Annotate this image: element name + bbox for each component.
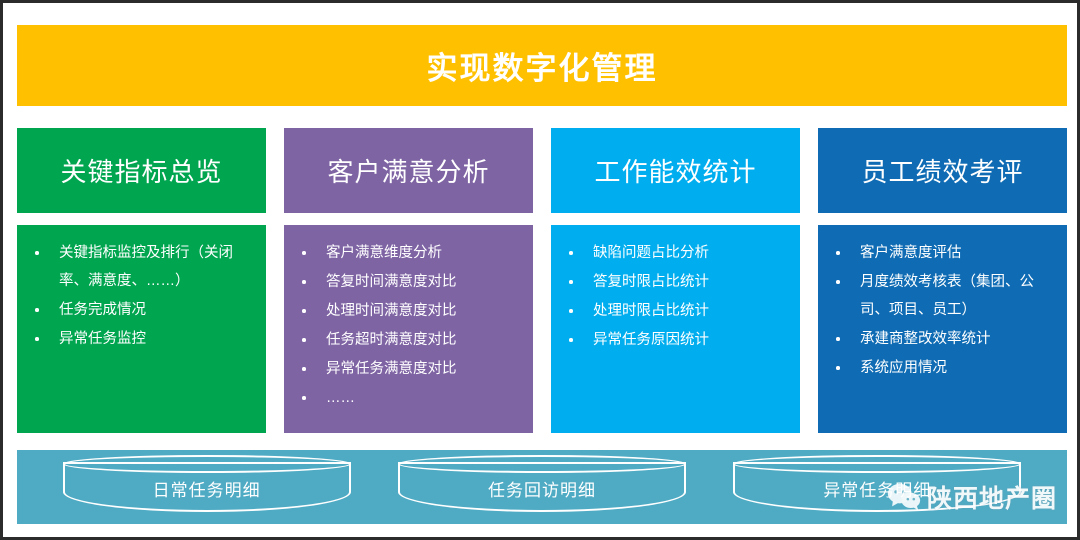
list-item: 任务超时满意度对比 bbox=[294, 326, 525, 354]
list-item: 处理时限占比统计 bbox=[561, 297, 792, 325]
column-work-efficiency: 工作能效统计 缺陷问题占比分析 答复时限占比统计 处理时限占比统计 异常任务原因… bbox=[551, 128, 800, 433]
column-body-4: 客户满意度评估 月度绩效考核表（集团、公司、项目、员工） 承建商整改效率统计 系… bbox=[818, 225, 1067, 433]
bullet-list-1: 关键指标监控及排行（关闭率、满意度、……） 任务完成情况 异常任务监控 bbox=[27, 239, 258, 353]
database-cylinder-abnormal-tasks: 异常任务明细 bbox=[733, 462, 1021, 512]
list-item: 系统应用情况 bbox=[828, 354, 1059, 382]
list-item: 月度绩效考核表（集团、公司、项目、员工） bbox=[828, 268, 1059, 324]
column-body-2: 客户满意维度分析 答复时间满意度对比 处理时间满意度对比 任务超时满意度对比 异… bbox=[284, 225, 533, 433]
bullet-list-4: 客户满意度评估 月度绩效考核表（集团、公司、项目、员工） 承建商整改效率统计 系… bbox=[828, 239, 1059, 382]
bullet-list-2: 客户满意维度分析 答复时间满意度对比 处理时间满意度对比 任务超时满意度对比 异… bbox=[294, 239, 525, 412]
slide-canvas: 实现数字化管理 关键指标总览 关键指标监控及排行（关闭率、满意度、……） 任务完… bbox=[0, 0, 1080, 540]
list-item: 异常任务满意度对比 bbox=[294, 355, 525, 383]
column-group: 关键指标总览 关键指标监控及排行（关闭率、满意度、……） 任务完成情况 异常任务… bbox=[17, 128, 1067, 433]
column-staff-performance: 员工绩效考评 客户满意度评估 月度绩效考核表（集团、公司、项目、员工） 承建商整… bbox=[818, 128, 1067, 433]
database-cylinder-task-revisits: 任务回访明细 bbox=[398, 462, 686, 512]
list-item: 缺陷问题占比分析 bbox=[561, 239, 792, 267]
list-item: 处理时间满意度对比 bbox=[294, 297, 525, 325]
column-header-2: 客户满意分析 bbox=[284, 128, 533, 213]
title-banner: 实现数字化管理 bbox=[17, 25, 1067, 106]
list-item: 异常任务监控 bbox=[27, 325, 258, 353]
list-item: 任务完成情况 bbox=[27, 296, 258, 324]
list-item: 答复时限占比统计 bbox=[561, 268, 792, 296]
database-cylinder-daily-tasks: 日常任务明细 bbox=[63, 462, 351, 512]
column-body-3: 缺陷问题占比分析 答复时限占比统计 处理时限占比统计 异常任务原因统计 bbox=[551, 225, 800, 433]
list-item: 客户满意度评估 bbox=[828, 239, 1059, 267]
list-item: 异常任务原因统计 bbox=[561, 326, 792, 354]
column-customer-satisfaction: 客户满意分析 客户满意维度分析 答复时间满意度对比 处理时间满意度对比 任务超时… bbox=[284, 128, 533, 433]
database-label: 异常任务明细 bbox=[823, 476, 931, 501]
page-title: 实现数字化管理 bbox=[427, 43, 658, 88]
list-item: 客户满意维度分析 bbox=[294, 239, 525, 267]
list-item: 承建商整改效率统计 bbox=[828, 325, 1059, 353]
database-label: 日常任务明细 bbox=[153, 476, 261, 501]
column-body-1: 关键指标监控及排行（关闭率、满意度、……） 任务完成情况 异常任务监控 bbox=[17, 225, 266, 433]
list-item: …… bbox=[294, 384, 525, 412]
column-header-1: 关键指标总览 bbox=[17, 128, 266, 213]
bullet-list-3: 缺陷问题占比分析 答复时限占比统计 处理时限占比统计 异常任务原因统计 bbox=[561, 239, 792, 354]
column-key-metrics: 关键指标总览 关键指标监控及排行（关闭率、满意度、……） 任务完成情况 异常任务… bbox=[17, 128, 266, 433]
column-header-4: 员工绩效考评 bbox=[818, 128, 1067, 213]
list-item: 关键指标监控及排行（关闭率、满意度、……） bbox=[27, 239, 258, 295]
column-header-3: 工作能效统计 bbox=[551, 128, 800, 213]
database-label: 任务回访明细 bbox=[488, 476, 596, 501]
list-item: 答复时间满意度对比 bbox=[294, 268, 525, 296]
data-source-bar: 日常任务明细 任务回访明细 异常任务明细 bbox=[17, 450, 1067, 524]
